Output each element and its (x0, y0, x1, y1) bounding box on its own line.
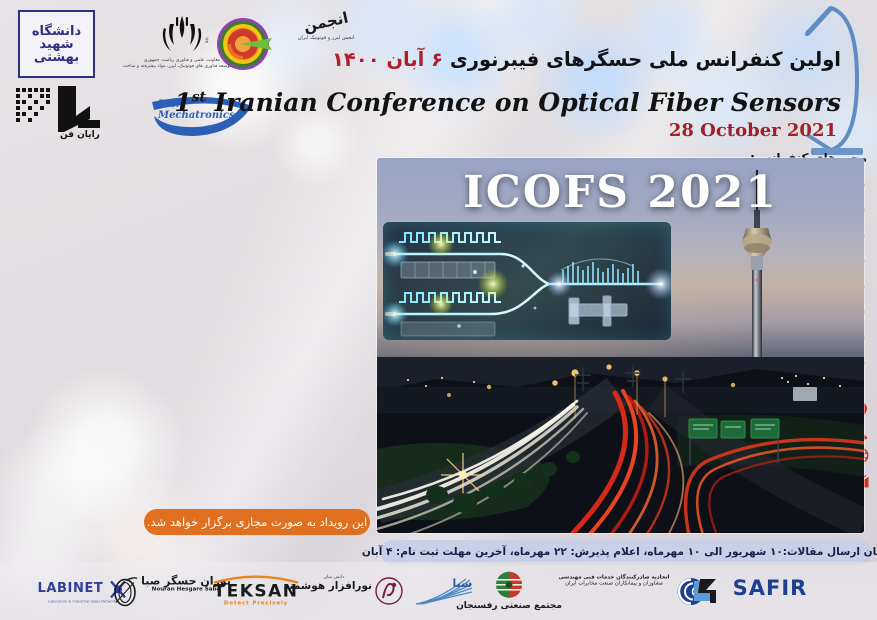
sponsor-rafsanjan-label: مجتمع صنعتی رفسنجان (454, 602, 564, 611)
sponsor-noor-afzar-hooshmand: دانش بنیان نورافزار هوشمند (296, 576, 404, 606)
sponsor-strip: LABINET Laboratory & Industrial Sales Ne… (0, 562, 877, 620)
conference-title-fa: اولین کنفرانس ملی حسگرهای فیبرنوری ۶ آبا… (332, 48, 841, 71)
logo-rayan-fan: رایان فن (14, 86, 119, 142)
sponsor-union-sub: مشاوران و پیمانکاران صنعت مخابرات ایران (556, 581, 672, 587)
conference-title-en-ordinal-suffix: st (192, 90, 206, 106)
sponsor-rafsanjan-industrial-complex: مجتمع صنعتی رفسنجان (454, 571, 564, 611)
sponsor-union-exporters: اتحادیه صادرکنندگان خدمات فنی مهندسی مشا… (556, 576, 706, 607)
logo-sbu-line2: شهید (32, 38, 81, 51)
conference-title-en-text: Iranian Conference on Optical Fiber Sens… (215, 88, 841, 117)
sponsor-labinet-label: LABINET (37, 581, 103, 596)
optical-fiber-chip-illustration (383, 222, 671, 340)
logo-optics-photonics-society-of-iran: Optics and Photonics Society of Iran (200, 8, 286, 74)
noor-afzar-mark-icon (374, 576, 404, 606)
nouran-mark-icon (112, 577, 138, 607)
logo-sbu-line1: دانشگاه (32, 25, 81, 38)
conference-title-en-ordinal: 1 (174, 88, 191, 117)
hero-image-title: ICOFS 2021 (377, 167, 864, 218)
conference-title-en: 1st Iranian Conference on Optical Fiber … (174, 88, 841, 117)
deadline-strip: زمان ارسال مقالات:۱۰ شهریور الی ۱۰ مهرما… (381, 540, 870, 563)
logo-sbu-line3: بهشتی (32, 51, 81, 64)
opsi-rainbow-icon: Optics and Photonics Society of Iran (200, 8, 286, 74)
rayan-fan-mark-icon (14, 86, 119, 134)
conference-date-fa: ۶ آبان ۱۴۰۰ (332, 48, 443, 71)
sponsor-safir: SAFIR (690, 577, 820, 605)
conference-title-fa-text: اولین کنفرانس ملی حسگرهای فیبرنوری (450, 48, 841, 71)
sponsor-teksan-sub: Detect Precisely (202, 601, 310, 607)
sponsor-safir-label: SAFIR (733, 576, 808, 600)
rafsanjan-mark-icon (491, 571, 527, 601)
highway-light-trails (377, 357, 864, 533)
logo-shahid-beheshti-university: دانشگاه شهید بهشتی (18, 10, 95, 78)
safir-mark-icon (690, 577, 720, 605)
conference-date-en: 28 October 2021 (669, 120, 837, 141)
svg-text:Optics and Photonics Society o: Optics and Photonics Society of Iran (200, 8, 211, 43)
sponsor-noor-afzar-label: نورافزار هوشمند (296, 581, 372, 592)
virtual-event-notice: این رویداد به صورت مجازی برگزار خواهد شد… (144, 509, 370, 535)
conference-hero-image: ICOFS 2021 (377, 158, 864, 533)
conference-poster: دانشگاه شهید بهشتی معاونت علمی و فناوری … (0, 0, 877, 620)
